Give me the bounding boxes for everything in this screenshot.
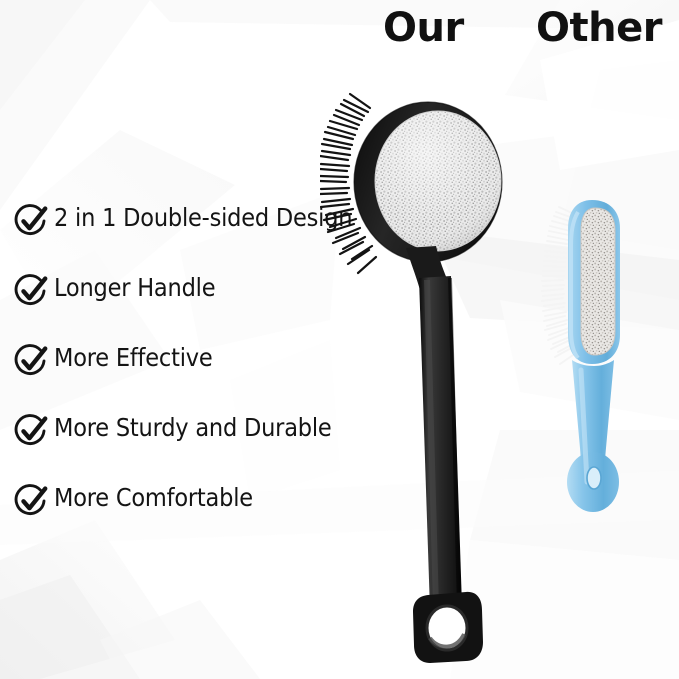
hanging-hole [413,592,483,663]
check-circle-icon [14,204,48,238]
check-circle-icon [14,274,48,308]
hanging-hole [587,467,601,489]
feature-label: 2 in 1 Double-sided Design [54,203,352,232]
feature-label: More Sturdy and Durable [54,413,332,442]
feature-label: More Effective [54,343,213,372]
pumice-stone [375,111,501,251]
product-ours [320,50,550,670]
check-circle-icon [14,484,48,518]
heading-other: Other [536,8,662,48]
check-circle-icon [14,414,48,448]
feature-label: More Comfortable [54,483,253,512]
product-other [540,190,670,520]
heading-ours: Our [383,8,464,48]
pumice-pad [581,208,615,355]
check-circle-icon [14,344,48,378]
comparison-infographic: Our Other 2 in 1 Double-sided Design Lon… [0,0,679,679]
feature-label: Longer Handle [54,273,215,302]
